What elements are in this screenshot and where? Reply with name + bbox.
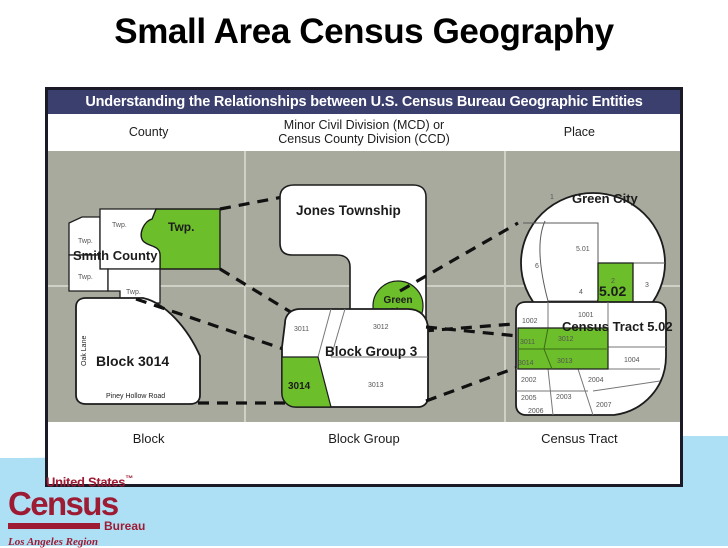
place-highlighted-tract-label: 5.02 [599, 283, 626, 299]
county-twp-label-n: Twp. [112, 222, 127, 229]
place-tract-label-4: 4 [579, 289, 583, 296]
census-tract-title-label: Census Tract 5.02 [562, 319, 673, 334]
census-tract-block-label-2005: 2005 [521, 395, 537, 402]
census-tract-block-label-2006: 2006 [528, 408, 544, 415]
census-tract-block-label-1002: 1002 [522, 318, 538, 325]
panel-county: Twp. Twp. Twp. Twp. Twp. Smith County [69, 209, 220, 303]
place-title-label: Green City [572, 191, 639, 206]
county-title-label: Smith County [73, 248, 158, 263]
logo-bureau-text: Bureau [104, 519, 145, 533]
logo-region-text: Los Angeles Region [8, 536, 208, 548]
column-label-mcd-line1: Minor Civil Division (MCD) or [284, 118, 444, 132]
diagram-svg: Twp. Twp. Twp. Twp. Twp. Smith County Jo… [48, 151, 680, 422]
figure-header-bar: Understanding the Relationships between … [48, 90, 680, 114]
mcd-green-city-label-line1: Green [384, 295, 413, 306]
county-twp-label-se: Twp. [126, 289, 141, 296]
census-geography-figure: Understanding the Relationships between … [45, 87, 683, 487]
panel-block-group: 3011 3012 3013 Block Group 3 3014 [282, 309, 428, 407]
bottom-column-label-row: Block Block Group Census Tract [48, 422, 680, 455]
block-street-oak-lane-label: Oak Lane [81, 336, 88, 366]
column-label-county-text: County [129, 125, 169, 139]
census-tract-block-label-2007: 2007 [596, 402, 612, 409]
county-twp-label-nw: Twp. [78, 238, 93, 245]
county-highlighted-township-label: Twp. [168, 220, 194, 234]
block-group-highlighted-block-label: 3014 [288, 381, 311, 392]
census-tract-highlighted-label-3011: 3011 [520, 339, 535, 346]
block-group-block-label-3011: 3011 [294, 326, 309, 333]
county-twp-label-sw: Twp. [78, 274, 93, 281]
diagram-body: Twp. Twp. Twp. Twp. Twp. Smith County Jo… [48, 151, 680, 422]
connector-blockgroup-to-tract-upper [426, 327, 518, 336]
census-tract-block-label-2003: 2003 [556, 394, 572, 401]
place-tract-label-6: 6 [535, 263, 539, 270]
column-label-census-tract: Census Tract [479, 422, 680, 455]
mcd-title-label: Jones Township [296, 203, 401, 218]
page-title: Small Area Census Geography [0, 12, 728, 52]
column-label-county: County [48, 114, 249, 150]
census-tract-block-label-2002: 2002 [521, 377, 537, 384]
logo-census-text: Census [8, 489, 208, 518]
census-tract-block-label-1004: 1004 [624, 357, 640, 364]
panel-census-tract: 1001 1002 1004 2002 2003 2004 2005 2006 … [516, 302, 673, 415]
logo-trademark: ™ [125, 474, 133, 483]
column-label-block: Block [48, 422, 249, 455]
census-tract-highlighted-label-3013: 3013 [557, 358, 573, 365]
block-group-block-label-3013: 3013 [368, 382, 384, 389]
block-title-label: Block 3014 [96, 353, 169, 369]
place-tract-label-1: 1 [550, 194, 554, 201]
block-street-piney-hollow-label: Piney Hollow Road [106, 393, 165, 400]
place-tract-label-3: 3 [645, 282, 649, 289]
column-label-place: Place [479, 114, 680, 150]
column-label-place-text: Place [564, 125, 595, 139]
census-tract-block-label-1001: 1001 [578, 312, 594, 319]
column-label-mcd-text: Minor Civil Division (MCD) or Census Cou… [278, 118, 450, 147]
census-tract-highlighted-label-3014: 3014 [518, 360, 534, 367]
connector-blockgroup-to-tract-lower [426, 367, 518, 401]
column-label-mcd: Minor Civil Division (MCD) or Census Cou… [249, 114, 478, 150]
census-bureau-logo: United States™ Census Bureau Los Angeles… [8, 474, 208, 540]
census-tract-highlighted-label-3012: 3012 [558, 336, 574, 343]
column-label-mcd-line2: Census County Division (CCD) [278, 132, 450, 146]
top-column-label-row: County Minor Civil Division (MCD) or Cen… [48, 114, 680, 151]
census-tract-block-label-2004: 2004 [588, 377, 604, 384]
column-label-block-group: Block Group [249, 422, 478, 455]
block-group-block-label-3012: 3012 [373, 324, 389, 331]
place-tract-label-501: 5.01 [576, 246, 590, 253]
logo-red-bar [8, 523, 100, 529]
block-group-title-label: Block Group 3 [325, 344, 418, 359]
